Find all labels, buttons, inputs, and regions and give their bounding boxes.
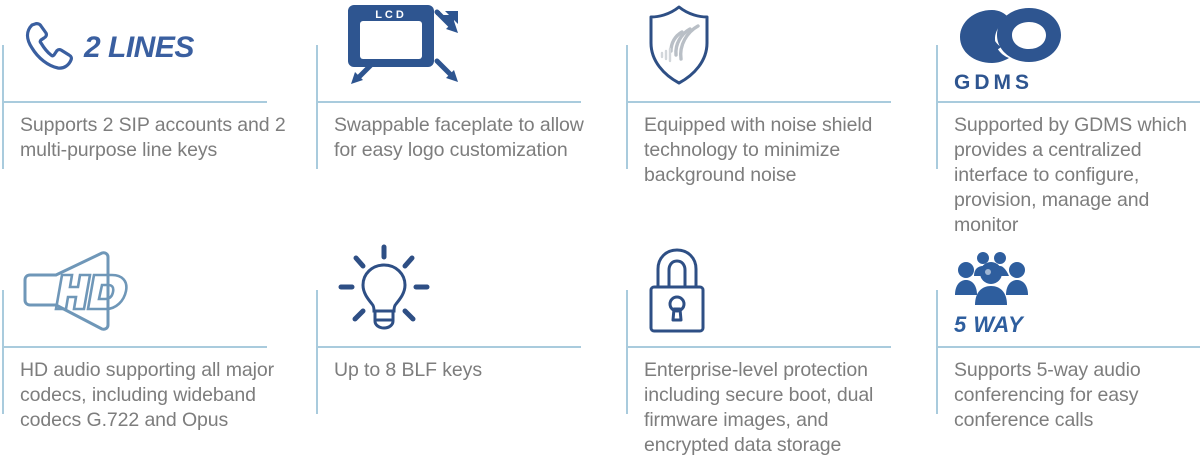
feature-card-gdms: GDMS Supported by GDMS which provides a …: [936, 0, 1200, 232]
feature-description: Supported by GDMS which provides a centr…: [954, 113, 1200, 238]
card-rule-horizontal: [936, 101, 1200, 103]
feature-card-noise-shield: Equipped with noise shield technology to…: [626, 0, 918, 232]
card-rule-horizontal: [316, 101, 581, 103]
feature-grid: 2 LINES Supports 2 SIP accounts and 2 mu…: [0, 0, 1200, 462]
feature-description: Supports 2 SIP accounts and 2 multi-purp…: [20, 113, 292, 163]
card-rule-vertical: [626, 45, 628, 169]
feature-description: Swappable faceplate to allow for easy lo…: [334, 113, 606, 163]
lcd-faceplate-icon: LCD: [334, 1, 464, 96]
lightbulb-icon: [334, 243, 434, 344]
card-rule-vertical: [316, 290, 318, 414]
phone-handset-icon: [20, 15, 82, 82]
feature-icon-label: 2 LINES: [84, 31, 194, 65]
hd-speaker-icon: [20, 247, 140, 340]
feature-description: Equipped with noise shield technology to…: [644, 113, 916, 188]
feature-description: Enterprise-level protection including se…: [644, 358, 916, 458]
gdms-rings-icon: [954, 6, 1066, 71]
card-rule-horizontal: [316, 346, 581, 348]
svg-text:LCD: LCD: [375, 9, 407, 21]
card-rule-horizontal: [2, 101, 267, 103]
card-rule-vertical: [2, 290, 4, 414]
feature-card-security: Enterprise-level protection including se…: [626, 245, 918, 462]
feature-description: Supports 5-way audio conferencing for ea…: [954, 358, 1200, 433]
feature-description: HD audio supporting all major codecs, in…: [20, 358, 292, 433]
noise-shield-icon: [644, 3, 714, 94]
feature-icon-area: GDMS: [954, 0, 1066, 96]
card-rule-horizontal: [626, 101, 891, 103]
feature-card-blf-keys: Up to 8 BLF keys: [316, 245, 608, 462]
feature-card-two-lines: 2 LINES Supports 2 SIP accounts and 2 mu…: [2, 0, 294, 232]
card-rule-vertical: [626, 290, 628, 414]
card-rule-vertical: [2, 45, 4, 169]
people-group-icon: [954, 251, 1030, 312]
feature-description: Up to 8 BLF keys: [334, 358, 606, 383]
feature-icon-area: [20, 245, 140, 341]
feature-icon-area: [644, 245, 710, 341]
padlock-icon: [644, 247, 710, 340]
card-rule-vertical: [316, 45, 318, 169]
card-rule-horizontal: [936, 346, 1200, 348]
card-rule-vertical: [936, 45, 938, 169]
feature-icon-area: LCD: [334, 0, 464, 96]
feature-icon-label: 5 WAY: [954, 312, 1023, 338]
card-rule-horizontal: [626, 346, 891, 348]
feature-card-swappable-faceplate: LCD: [316, 0, 608, 232]
card-rule-vertical: [936, 290, 938, 414]
feature-icon-area: 2 LINES: [20, 0, 194, 96]
feature-icon-area: 5 WAY: [954, 245, 1030, 341]
feature-icon-area: [644, 0, 714, 96]
feature-card-hd-audio: HD audio supporting all major codecs, in…: [2, 245, 294, 462]
card-rule-horizontal: [2, 346, 267, 348]
feature-icon-label: GDMS: [954, 71, 1033, 95]
feature-card-five-way-conference: 5 WAY Supports 5-way audio conferencing …: [936, 245, 1200, 462]
feature-icon-area: [334, 245, 434, 341]
